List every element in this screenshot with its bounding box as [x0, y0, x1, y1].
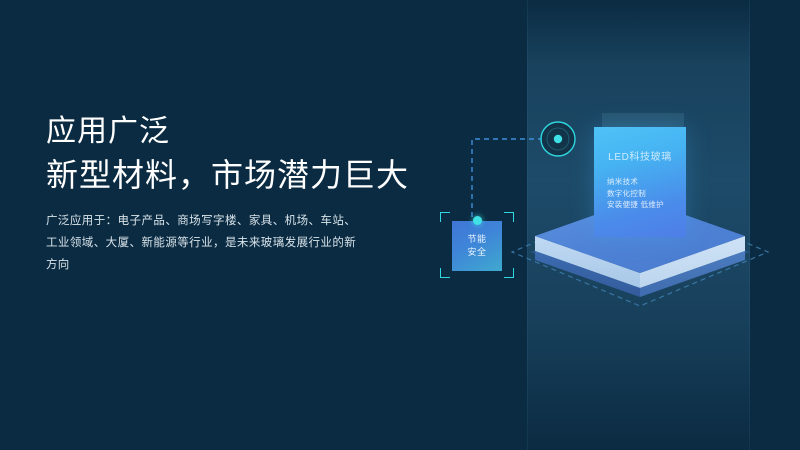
- glass-panel-feature: 纳米技术: [607, 176, 686, 188]
- headline-line-1: 应用广泛: [46, 112, 446, 152]
- led-glass-panel[interactable]: LED科技玻璃 纳米技术 数字化控制 安装便捷 低维护: [594, 127, 686, 237]
- tag-card-anchor-dot: [473, 216, 482, 225]
- headline-line-2: 新型材料，市场潜力巨大: [46, 152, 446, 198]
- body-paragraph: 广泛应用于：电子产品、商场写字楼、家具、机场、车站、工业领域、大厦、新能源等行业…: [46, 210, 356, 276]
- tag-card-line-1: 节能: [467, 233, 486, 246]
- glass-panel-feature-list: 纳米技术 数字化控制 安装便捷 低维护: [594, 176, 686, 211]
- feature-tag-card-group[interactable]: 节能 安全: [440, 212, 514, 278]
- tag-card-line-2: 安全: [467, 246, 486, 259]
- slide-canvas: LED科技玻璃 纳米技术 数字化控制 安装便捷 低维护 节能 安全 应用广泛 新…: [0, 0, 800, 450]
- text-content-block: 应用广泛 新型材料，市场潜力巨大 广泛应用于：电子产品、商场写字楼、家具、机场、…: [46, 112, 446, 276]
- bracket-corner-bottom-right: [504, 268, 514, 278]
- feature-tag-card[interactable]: 节能 安全: [452, 221, 502, 271]
- band-right-edge: [749, 0, 750, 450]
- glass-panel-title: LED科技玻璃: [608, 148, 672, 163]
- glass-panel-feature: 数字化控制: [607, 188, 686, 200]
- bracket-corner-top-right: [504, 212, 514, 222]
- band-left-edge: [527, 0, 528, 450]
- glass-panel-feature: 安装便捷 低维护: [607, 199, 686, 211]
